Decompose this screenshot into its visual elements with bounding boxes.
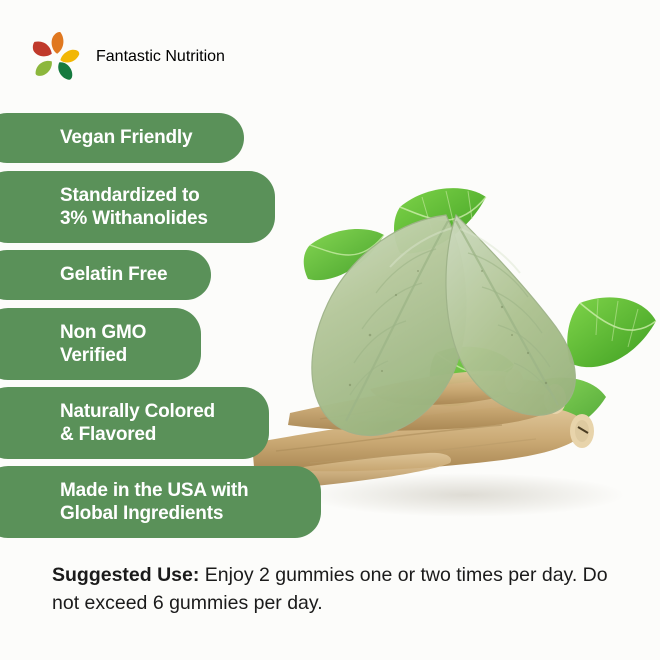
feature-badge-label: Standardized to 3% Withanolides bbox=[60, 184, 255, 230]
feature-badge-label: Naturally Colored & Flavored bbox=[60, 400, 249, 446]
feature-badge: Gelatin Free bbox=[0, 250, 211, 300]
brand-header: Fantastic Nutrition bbox=[28, 28, 225, 86]
feature-badge: Made in the USA with Global Ingredients bbox=[0, 466, 321, 538]
feature-badge: Naturally Colored & Flavored bbox=[0, 387, 269, 459]
feature-badge: Non GMO Verified bbox=[0, 308, 201, 380]
feature-badge: Standardized to 3% Withanolides bbox=[0, 171, 275, 243]
feature-badge-label: Gelatin Free bbox=[60, 263, 191, 286]
suggested-use-note: Suggested Use: Enjoy 2 gummies one or tw… bbox=[52, 562, 622, 617]
suggested-use-label: Suggested Use: bbox=[52, 564, 199, 586]
feature-badge: Vegan Friendly bbox=[0, 113, 244, 163]
feature-badge-label: Vegan Friendly bbox=[60, 126, 224, 149]
infographic-canvas: Fantastic Nutrition bbox=[0, 0, 660, 660]
feature-badge-label: Made in the USA with Global Ingredients bbox=[60, 479, 301, 525]
pinwheel-logo-icon bbox=[28, 30, 82, 84]
brand-name: Fantastic Nutrition bbox=[96, 48, 225, 66]
feature-badge-label: Non GMO Verified bbox=[60, 321, 181, 367]
